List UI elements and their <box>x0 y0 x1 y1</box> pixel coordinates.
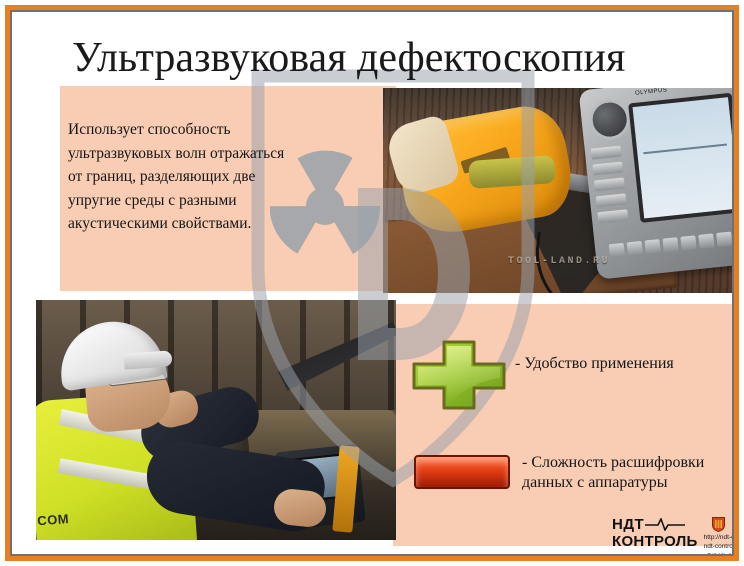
logo-line-ndt: НДТ <box>612 517 698 532</box>
waveform-icon <box>645 518 685 531</box>
tool-land-watermark: TOOL-LAND.RU <box>508 256 610 267</box>
contact-line-email[interactable]: ndt-control@mail.ru <box>704 542 732 551</box>
logo-line-kontrol: КОНТРОЛЬ <box>612 534 698 549</box>
detector-knob <box>588 98 632 142</box>
bullet-advantage: - Удобство применения <box>515 354 732 374</box>
minus-icon <box>414 455 510 489</box>
detector-side-keys <box>590 140 638 224</box>
glove-fingers <box>468 155 556 189</box>
detector-screen <box>628 93 732 223</box>
bullet-disadvantage: - Сложность расшифровки данных с аппарат… <box>522 453 732 493</box>
inspector-at-pipe-photo: COM <box>36 300 396 540</box>
logo-contact-block: http://ndt-control.ru ndt-control@mail.r… <box>704 517 732 554</box>
vest-logo-text: COM <box>37 511 70 528</box>
contact-line-phone[interactable]: +7(343) 200-50-22 <box>704 552 732 554</box>
hard-hat-brim <box>124 350 173 369</box>
contact-line-website[interactable]: http://ndt-control.ru <box>704 533 732 542</box>
page-title: Ультразвуковая дефектоскопия <box>72 36 712 80</box>
company-logo[interactable]: НДТ КОНТРОЛЬ http://ndt-control.ru ndt-c… <box>612 517 732 554</box>
slide-canvas: OLYMPUS TOOL-LAND.RU <box>12 12 732 554</box>
logo-ndt-text: НДТ <box>612 517 644 532</box>
body-paragraph: Использует способность ультразвуковых во… <box>68 118 298 236</box>
logo-wordmark: НДТ КОНТРОЛЬ <box>612 517 698 549</box>
slide-root: OLYMPUS TOOL-LAND.RU <box>0 0 744 566</box>
glove-and-flaw-detector-photo: OLYMPUS TOOL-LAND.RU <box>383 88 732 293</box>
heraldic-crest-icon <box>712 517 725 532</box>
plus-icon <box>410 338 508 412</box>
